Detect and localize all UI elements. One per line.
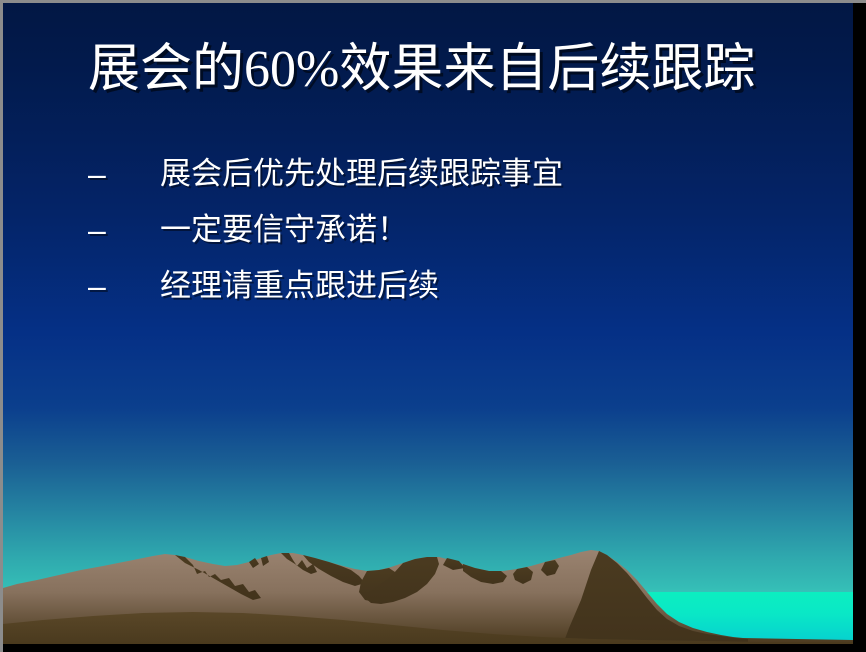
slide-title: 展会的60%效果来自后续跟踪 (88, 38, 788, 101)
bullet-list: – 展会后优先处理后续跟踪事宜 – 一定要信守承诺！ – 经理请重点跟进后续 (88, 152, 788, 320)
slide-right-gutter (853, 0, 866, 652)
bullet-dash-icon: – (88, 264, 160, 308)
mountain-range-graphic (3, 540, 853, 644)
slide-top-border (0, 0, 866, 3)
bullet-dash-icon: – (88, 152, 160, 196)
bullet-item-1: – 展会后优先处理后续跟踪事宜 (88, 152, 788, 200)
bullet-dash-icon: – (88, 208, 160, 252)
bullet-item-3: – 经理请重点跟进后续 (88, 264, 788, 312)
bullet-text-2: 一定要信守承诺！ (160, 208, 788, 252)
presentation-slide: 展会的60%效果来自后续跟踪 – 展会后优先处理后续跟踪事宜 – 一定要信守承诺… (0, 0, 866, 652)
slide-left-border (0, 0, 3, 652)
bullet-text-1: 展会后优先处理后续跟踪事宜 (160, 152, 788, 196)
bullet-item-2: – 一定要信守承诺！ (88, 208, 788, 256)
bullet-text-3: 经理请重点跟进后续 (160, 264, 788, 308)
slide-bottom-gutter (0, 644, 866, 652)
